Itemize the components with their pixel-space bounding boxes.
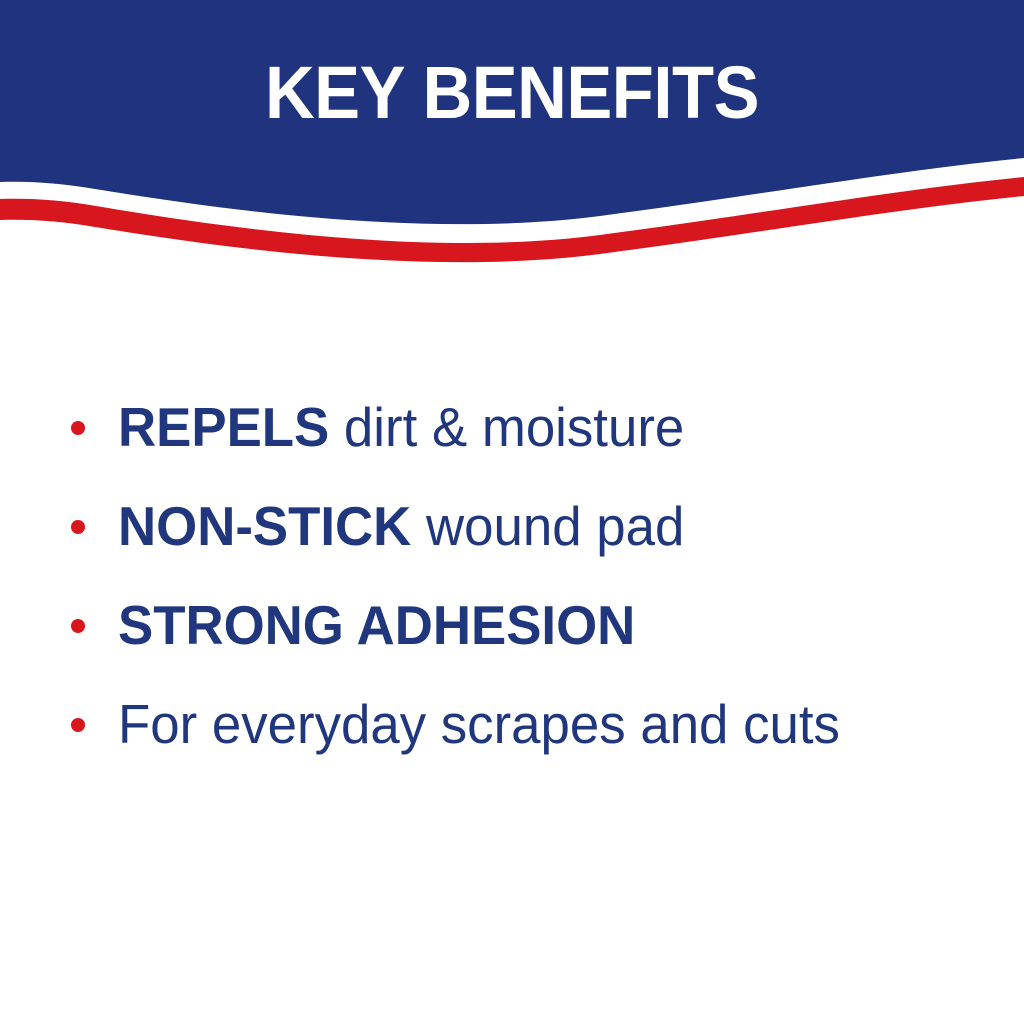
benefit-rest: wound pad bbox=[411, 495, 684, 557]
benefit-item-non-stick: NON-STICKwound pad bbox=[60, 477, 980, 576]
benefit-item-strong-adhesion: STRONG ADHESION bbox=[60, 576, 980, 675]
benefit-text: REPELSdirt & moisture bbox=[118, 399, 684, 457]
bullet-dot-icon bbox=[71, 619, 85, 633]
header-banner-shape bbox=[0, 0, 1024, 290]
bullet-dot-icon bbox=[71, 718, 85, 732]
benefit-item-repels: REPELSdirt & moisture bbox=[60, 378, 980, 477]
benefit-lead: REPELS bbox=[118, 396, 329, 458]
benefit-item-everyday-use: For everyday scrapes and cuts bbox=[60, 675, 980, 774]
benefit-text: NON-STICKwound pad bbox=[118, 498, 684, 556]
benefit-lead: STRONG ADHESION bbox=[118, 594, 635, 656]
benefit-lead: NON-STICK bbox=[118, 495, 411, 557]
page-title: KEY BENEFITS bbox=[36, 56, 988, 130]
bullet-dot-icon bbox=[71, 421, 85, 435]
benefits-list: REPELSdirt & moisture NON-STICKwound pad… bbox=[60, 378, 980, 774]
header-banner: KEY BENEFITS bbox=[0, 0, 1024, 290]
benefit-rest: For everyday scrapes and cuts bbox=[118, 693, 840, 755]
benefit-rest: dirt & moisture bbox=[329, 396, 684, 458]
bullet-dot-icon bbox=[71, 520, 85, 534]
benefit-text: STRONG ADHESION bbox=[118, 597, 635, 655]
benefit-text: For everyday scrapes and cuts bbox=[118, 696, 840, 754]
key-benefits-panel: KEY BENEFITS REPELSdirt & moisture NON-S… bbox=[0, 0, 1024, 1024]
